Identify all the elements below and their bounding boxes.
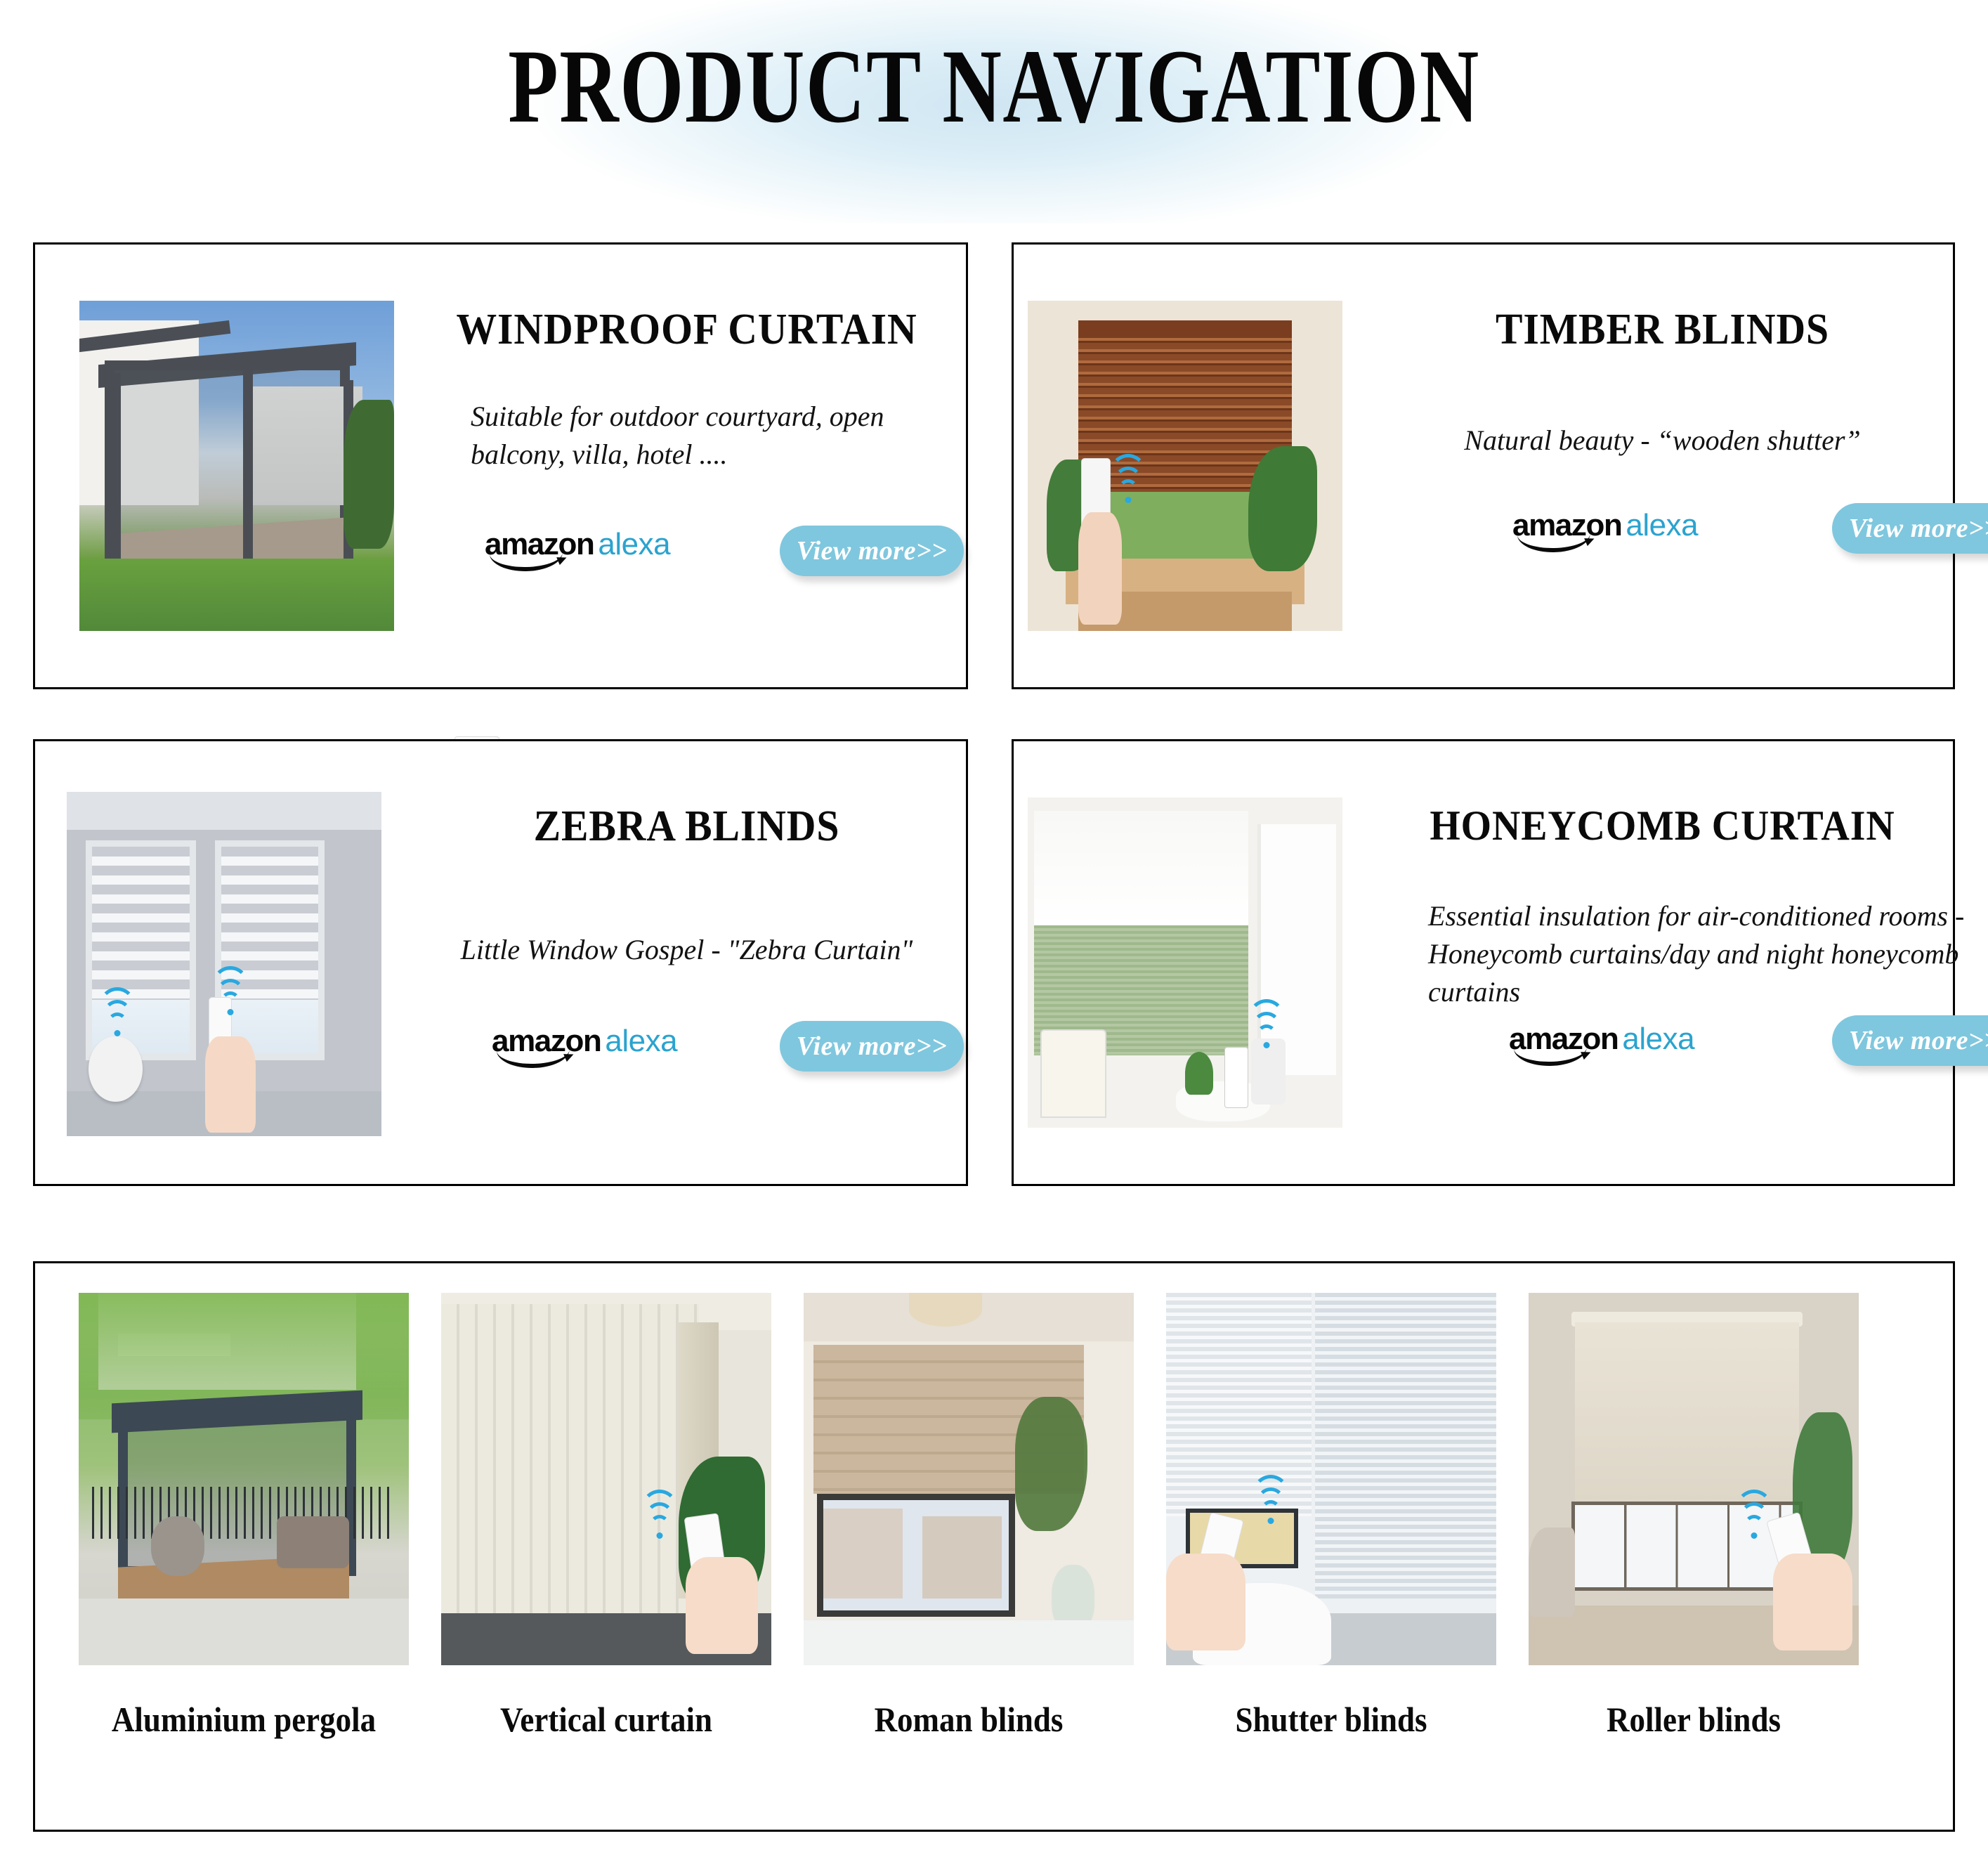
amazon-smile-icon xyxy=(1517,530,1591,553)
view-more-label: View more>> xyxy=(797,535,948,566)
amazon-alexa-logo: amazon alexa xyxy=(492,1026,677,1067)
card-description: Natural beauty - “wooden shutter” xyxy=(1379,422,1946,460)
gallery-label-roller-blinds: Roller blinds xyxy=(1545,1699,1843,1748)
product-card-zebra-blinds[interactable]: ZEBRA BLINDS Little Window Gospel - "Zeb… xyxy=(33,739,968,1186)
wifi-icon xyxy=(1248,1017,1286,1048)
wifi-icon xyxy=(1252,1493,1290,1524)
page-header: PRODUCT NAVIGATION xyxy=(0,0,1988,223)
amazon-smile-icon xyxy=(1514,1044,1588,1067)
product-photo-windproof-curtain xyxy=(79,301,394,631)
card-description: Little Window Gospel - "Zebra Curtain" xyxy=(414,931,959,969)
amazon-smile-icon xyxy=(490,549,563,572)
gallery-thumb-aluminium-pergola[interactable] xyxy=(79,1293,409,1665)
card-title: TIMBER BLINDS xyxy=(1399,305,1926,355)
card-description: Suitable for outdoor courtyard, open bal… xyxy=(471,398,920,474)
wifi-icon xyxy=(1109,472,1147,503)
card-title: HONEYCOMB CURTAIN xyxy=(1399,802,1926,850)
gallery-label-aluminium-pergola: Aluminium pergola xyxy=(96,1699,393,1748)
wifi-icon xyxy=(98,1005,136,1036)
gallery-thumb-shutter-blinds[interactable] xyxy=(1166,1293,1496,1665)
alexa-wordmark: alexa xyxy=(605,1026,677,1057)
amazon-wordmark: amazon xyxy=(492,1026,601,1067)
product-card-windproof-curtain[interactable]: ^ — v WINDPROOF CURTAIN Suitable for out… xyxy=(33,242,968,689)
amazon-wordmark: amazon xyxy=(485,529,594,570)
view-more-label: View more>> xyxy=(1849,1025,1988,1056)
gallery-label-vertical-curtain: Vertical curtain xyxy=(458,1699,755,1748)
gallery-thumb-roller-blinds[interactable] xyxy=(1529,1293,1859,1665)
product-card-timber-blinds[interactable]: TIMBER BLINDS Natural beauty - “wooden s… xyxy=(1012,242,1955,689)
amazon-smile-icon xyxy=(497,1046,570,1069)
gallery-label-shutter-blinds: Shutter blinds xyxy=(1183,1699,1480,1748)
product-gallery-panel: Aluminium pergola Vertical curtain Roman… xyxy=(33,1261,1955,1832)
page-title: PRODUCT NAVIGATION xyxy=(218,27,1769,146)
view-more-button[interactable]: View more>> xyxy=(1832,503,1988,554)
amazon-alexa-logo: amazon alexa xyxy=(1512,510,1698,551)
amazon-alexa-logo: amazon alexa xyxy=(1509,1024,1694,1064)
amazon-wordmark: amazon xyxy=(1512,510,1621,551)
product-photo-zebra-blinds xyxy=(67,792,381,1136)
gallery-thumb-roman-blinds[interactable] xyxy=(804,1293,1134,1665)
wifi-icon xyxy=(641,1508,679,1539)
alexa-wordmark: alexa xyxy=(1626,510,1698,541)
amazon-alexa-logo: amazon alexa xyxy=(485,529,670,570)
gallery-thumb-vertical-curtain[interactable] xyxy=(441,1293,771,1665)
wifi-icon xyxy=(211,984,249,1015)
product-photo-honeycomb-curtain xyxy=(1028,797,1342,1128)
product-card-honeycomb-curtain[interactable]: HONEYCOMB CURTAIN Essential insulation f… xyxy=(1012,739,1955,1186)
card-title: WINDPROOF CURTAIN xyxy=(433,305,940,355)
gallery-thumbnail-row xyxy=(79,1293,1905,1669)
view-more-button[interactable]: View more>> xyxy=(780,1021,964,1072)
alexa-wordmark: alexa xyxy=(598,529,670,560)
wifi-icon xyxy=(1735,1508,1773,1539)
card-title: ZEBRA BLINDS xyxy=(433,802,940,852)
view-more-button[interactable]: View more>> xyxy=(1832,1015,1988,1066)
gallery-label-roman-blinds: Roman blinds xyxy=(820,1699,1118,1748)
view-more-label: View more>> xyxy=(1849,513,1988,544)
alexa-wordmark: alexa xyxy=(1622,1024,1694,1055)
amazon-wordmark: amazon xyxy=(1509,1024,1618,1064)
gallery-label-row: Aluminium pergola Vertical curtain Roman… xyxy=(79,1699,1905,1748)
view-more-button[interactable]: View more>> xyxy=(780,526,964,576)
product-photo-timber-blinds xyxy=(1028,301,1342,631)
card-description: Essential insulation for air-conditioned… xyxy=(1428,897,1969,1011)
view-more-label: View more>> xyxy=(797,1031,948,1062)
